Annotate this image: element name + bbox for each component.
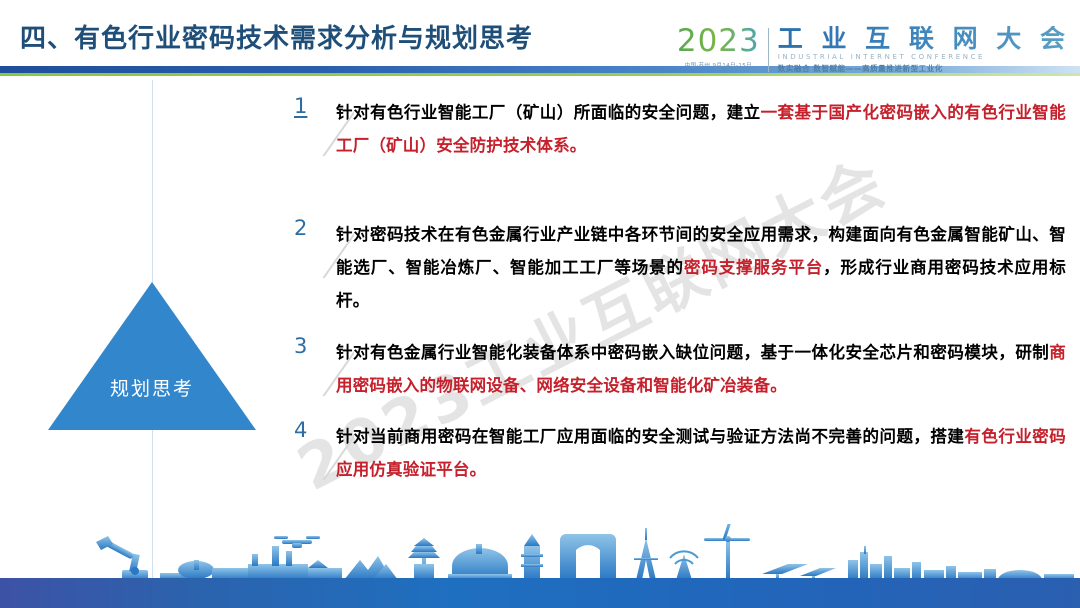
bullet-number: 4 xyxy=(294,420,307,441)
tower-icon xyxy=(521,534,543,580)
bullet-number: 1 xyxy=(294,96,307,117)
bullet-text: 针对当前商用密码在智能工厂应用面临的安全测试与验证方法尚不完善的问题，搭建有色行… xyxy=(336,420,1066,486)
wind-turbine-icon xyxy=(704,524,750,580)
bullet-text: 针对有色金属行业智能化装备体系中密码嵌入缺位问题，基于一体化安全芯片和密码模块，… xyxy=(336,336,1066,402)
bullet-text-highlight: 密码支撑服务平台 xyxy=(684,258,823,277)
slash-decoration-icon xyxy=(314,224,354,278)
triangle-label: 规划思考 xyxy=(48,374,256,401)
list-item: 4 针对当前商用密码在智能工厂应用面临的安全测试与验证方法尚不完善的问题，搭建有… xyxy=(288,420,1066,486)
footer-color-band xyxy=(0,578,1080,608)
bullet-text-plain: 针对有色金属行业智能化装备体系中密码嵌入缺位问题，基于一体化安全芯片和密码模块，… xyxy=(336,343,1049,362)
drone-icon xyxy=(274,536,320,548)
logo-english-name: INDUSTRIAL INTERNET CONFERENCE xyxy=(778,53,1070,61)
page-footer xyxy=(0,524,1080,608)
page-header: 四、有色行业密码技术需求分析与规划思考 2023 中国·苏州 9月14日-15日… xyxy=(0,0,1080,72)
robot-arm-icon xyxy=(96,536,148,580)
list-item: 1 针对有色行业智能工厂（矿山）所面临的安全问题，建立一套基于国产化密码嵌入的有… xyxy=(288,96,1066,162)
machine-icon xyxy=(160,560,252,580)
logo-divider xyxy=(768,28,769,72)
logo-name-block: 工 业 互 联 网 大 会 INDUSTRIAL INTERNET CONFER… xyxy=(778,26,1070,74)
list-item: 2 针对密码技术在有色金属行业产业链中各环节间的安全应用需求，构建面向有色金属智… xyxy=(288,218,1066,317)
slash-decoration-icon xyxy=(314,102,354,156)
page-title: 四、有色行业密码技术需求分析与规划思考 xyxy=(20,18,533,55)
city-icon xyxy=(848,546,1074,580)
radio-tower-icon xyxy=(670,551,698,580)
factory-icon xyxy=(248,546,342,580)
lattice-tower-icon xyxy=(634,528,658,580)
list-item: 3 针对有色金属行业智能化装备体系中密码嵌入缺位问题，基于一体化安全芯片和密码模… xyxy=(288,336,1066,402)
triangle-shape-icon xyxy=(48,282,256,430)
conference-logo: 2023 中国·苏州 9月14日-15日 工 业 互 联 网 大 会 INDUS… xyxy=(677,26,1070,74)
city-skyline-graphic xyxy=(0,524,1080,580)
slash-decoration-icon xyxy=(314,426,354,480)
logo-year: 2023 xyxy=(677,26,760,57)
slash-decoration-icon xyxy=(314,342,354,396)
logo-date: 中国·苏州 9月14日-15日 xyxy=(677,61,760,69)
bridge-icon xyxy=(448,544,512,580)
bullet-text-plain: 针对当前商用密码在智能工厂应用面临的安全测试与验证方法尚不完善的问题，搭建 xyxy=(336,427,964,446)
logo-chinese-name: 工 业 互 联 网 大 会 xyxy=(778,26,1070,51)
mountain-icon xyxy=(344,556,398,580)
bullet-text-plain: 针对有色行业智能工厂（矿山）所面临的安全问题，建立 xyxy=(336,103,761,122)
gate-of-the-orient-icon xyxy=(560,534,616,580)
bullet-number: 3 xyxy=(294,336,307,357)
pagoda-icon xyxy=(408,538,440,580)
bullet-number: 2 xyxy=(294,218,307,239)
bullet-text: 针对密码技术在有色金属行业产业链中各环节间的安全应用需求，构建面向有色金属智能矿… xyxy=(336,218,1066,317)
logo-year-block: 2023 中国·苏州 9月14日-15日 xyxy=(677,26,768,69)
bullet-text: 针对有色行业智能工厂（矿山）所面临的安全问题，建立一套基于国产化密码嵌入的有色行… xyxy=(336,96,1066,162)
logo-tagline: 数实融合 数智赋能——高质量推进新型工业化 xyxy=(778,63,1070,74)
planning-triangle: 规划思考 xyxy=(48,282,256,430)
